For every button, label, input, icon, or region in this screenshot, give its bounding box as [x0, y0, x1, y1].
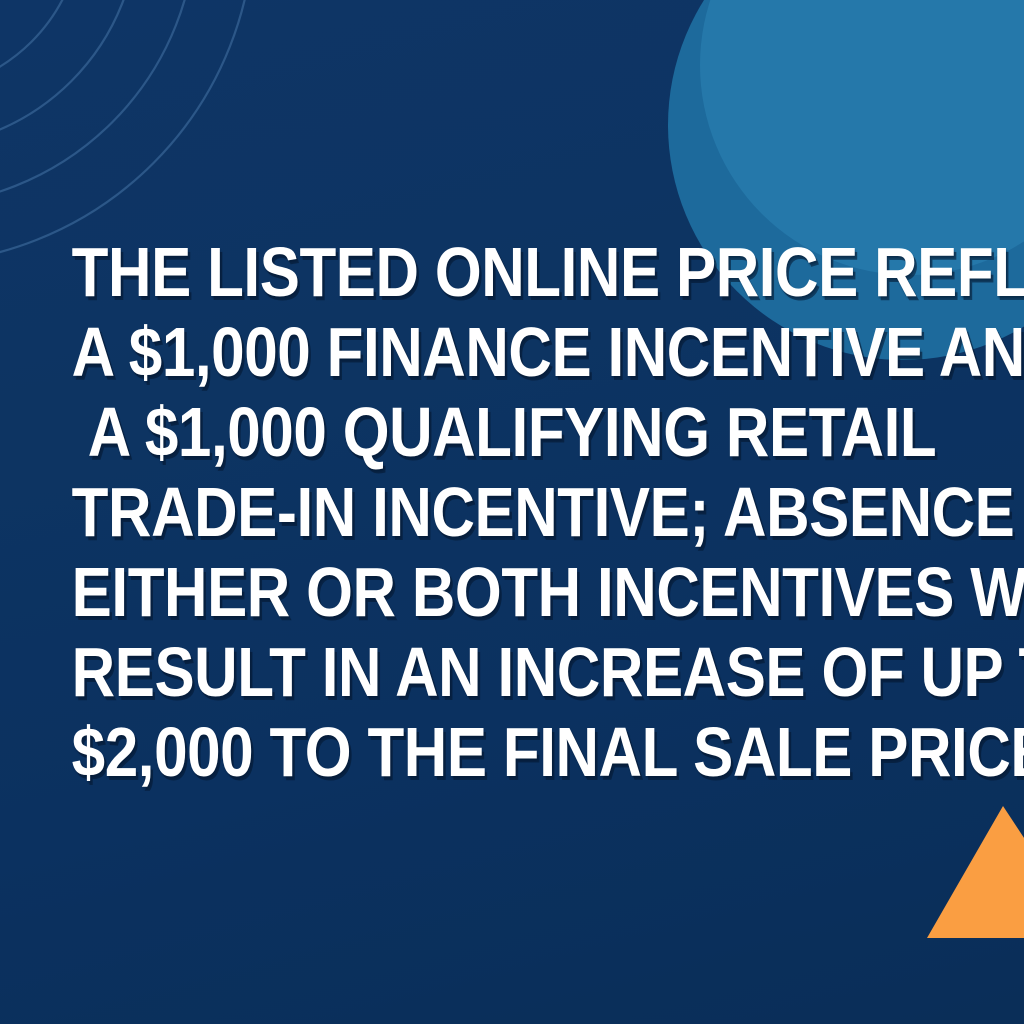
- headline-line-6: RESULT IN AN INCREASE OF UP TO: [72, 632, 953, 712]
- disclaimer-text-block: THE LISTED ONLINE PRICE REFLECTS A $1,00…: [0, 0, 1024, 1024]
- headline-line-2: A $1,000 FINANCE INCENTIVE AND: [72, 312, 953, 392]
- promotional-disclaimer-graphic: THE LISTED ONLINE PRICE REFLECTS A $1,00…: [0, 0, 1024, 1024]
- headline-line-1: THE LISTED ONLINE PRICE REFLECTS: [72, 232, 953, 312]
- headline-line-7: $2,000 TO THE FINAL SALE PRICE.: [72, 712, 953, 792]
- headline-line-5: EITHER OR BOTH INCENTIVES WILL: [72, 552, 953, 632]
- headline-line-4: TRADE-IN INCENTIVE; ABSENCE OF: [72, 472, 953, 552]
- headline-line-3: A $1,000 QUALIFYING RETAIL: [72, 392, 953, 472]
